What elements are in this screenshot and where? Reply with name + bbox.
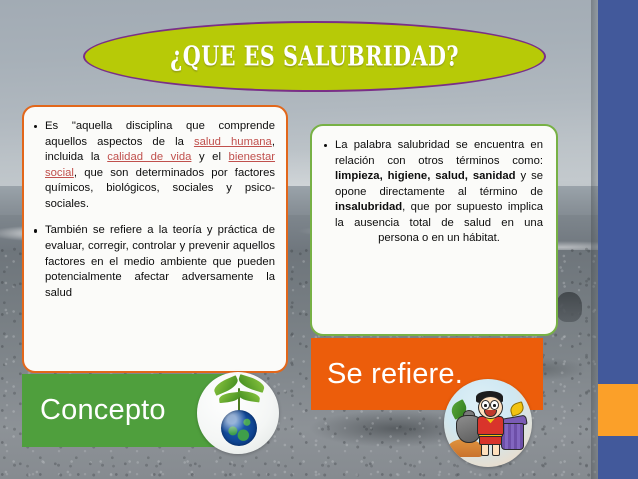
left-content-box: Es "aquella disciplina que comprende aqu…	[22, 105, 288, 373]
text-run: También se refiere a la teoría y práctic…	[45, 224, 275, 298]
right-bullet-list: La palabra salubridad se encuentra en re…	[322, 138, 543, 247]
banner-label-concepto: Concepto	[40, 396, 166, 425]
text-run-bold: limpieza, higiene, salud, sanidad	[335, 170, 516, 182]
text-run: y el	[191, 151, 228, 163]
background-person-silhouette	[556, 292, 582, 322]
banner-label-se-refiere: Se refiere.	[327, 360, 463, 389]
globe-icon	[221, 410, 257, 446]
cartoon-boy-trash-icon	[444, 379, 532, 467]
trash-bin-icon	[501, 423, 524, 450]
link-salud-humana[interactable]: salud humana	[194, 136, 272, 148]
eye-icon	[481, 400, 490, 410]
title-ellipse: ¿QUE ES SALUBRIDAD?	[83, 21, 546, 92]
slide-canvas: ¿QUE ES SALUBRIDAD? Es "aquella discipli…	[0, 0, 638, 479]
eye-icon	[490, 400, 499, 410]
side-bar-shadow	[591, 0, 598, 479]
link-calidad-de-vida[interactable]: calidad de vida	[107, 151, 191, 163]
list-item: También se refiere a la teoría y práctic…	[32, 223, 275, 301]
earth-sprout-icon	[197, 372, 279, 454]
right-content-box: La palabra salubridad se encuentra en re…	[310, 124, 558, 336]
side-bar-orange-accent	[598, 384, 638, 436]
list-item: Es "aquella disciplina que comprende aqu…	[32, 119, 275, 212]
list-item: La palabra salubridad se encuentra en re…	[322, 138, 543, 247]
left-bullet-list: Es "aquella disciplina que comprende aqu…	[32, 119, 275, 301]
text-run-bold: insalubridad	[335, 201, 402, 213]
text-run: , que son determinados por factores quím…	[45, 167, 275, 210]
leaf-icon	[237, 391, 260, 403]
page-title: ¿QUE ES SALUBRIDAD?	[170, 41, 459, 73]
text-run: La palabra salubridad se encuentra en re…	[335, 139, 543, 167]
